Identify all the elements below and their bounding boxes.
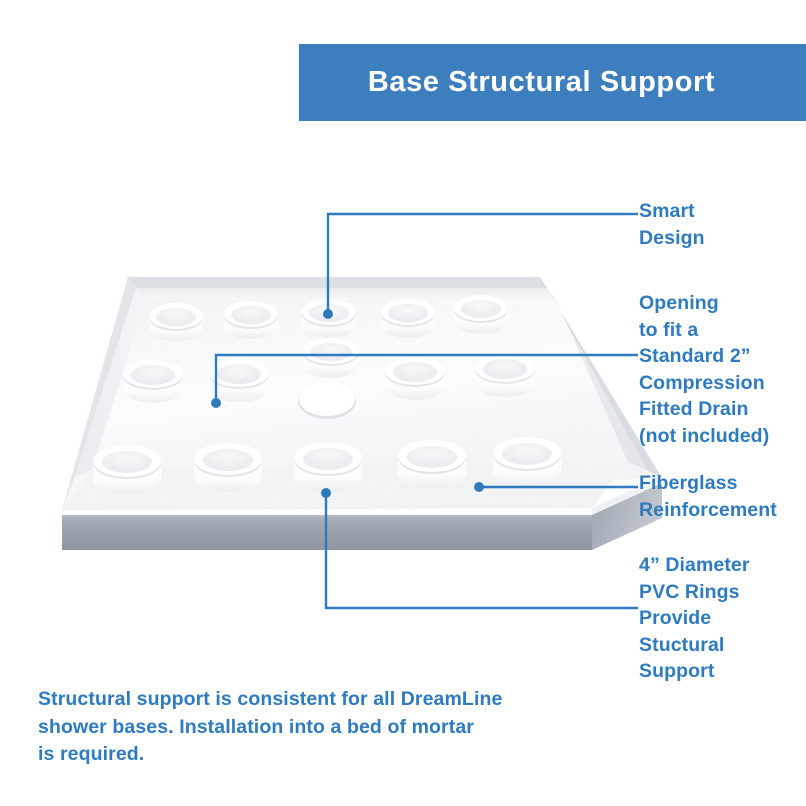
callout-line: Design <box>639 225 705 252</box>
base-outer-top <box>62 277 662 510</box>
pvc-ring <box>475 354 535 397</box>
leader-drain-opening <box>216 355 638 403</box>
callout-line: Opening <box>639 290 769 317</box>
leader-lines <box>211 214 638 608</box>
pvc-ring <box>149 303 203 341</box>
footer-line: Structural support is consistent for all… <box>38 686 578 714</box>
leader-dot-fiberglass <box>474 482 484 492</box>
callout-drain-opening: Opening to fit a Standard 2” Compression… <box>639 290 769 449</box>
footer-line: shower bases. Installation into a bed of… <box>38 714 578 742</box>
callout-line: Compression <box>639 370 769 397</box>
callout-line: Reinforcement <box>639 497 777 524</box>
pvc-ring <box>224 301 278 339</box>
base-rim-left-outer <box>62 277 136 510</box>
callout-pvc-rings: 4” Diameter PVC Rings Provide Stuctural … <box>639 552 750 685</box>
base-rim-right-top <box>547 288 647 470</box>
leader-smart-design <box>328 214 638 314</box>
pvc-ring <box>209 359 269 402</box>
callout-line: Standard 2” <box>639 343 769 370</box>
callout-line: Fitted Drain <box>639 396 769 423</box>
pvc-ring <box>385 357 445 400</box>
callout-line: 4” Diameter <box>639 552 750 579</box>
base-front-edge <box>62 514 592 550</box>
base-slab <box>62 277 662 550</box>
callout-fiberglass-reinforcement: Fiberglass Reinforcement <box>639 470 777 523</box>
callout-line: to fit a <box>639 317 769 344</box>
footer-line: is required. <box>38 741 578 769</box>
base-rim-back-top <box>136 288 556 300</box>
leader-pvc-rings <box>326 493 638 608</box>
leader-dot-pvc-rings <box>321 488 331 498</box>
footer-caption: Structural support is consistent for all… <box>38 686 578 769</box>
pvc-ring <box>493 437 561 486</box>
deck-shading <box>92 300 628 470</box>
pvc-ring <box>302 299 356 338</box>
callout-smart-design: Smart Design <box>639 198 705 251</box>
pvc-ring <box>381 299 435 338</box>
base-inner-deck <box>92 300 628 470</box>
drain-opening <box>298 382 356 419</box>
leader-dot-drain-opening <box>211 398 221 408</box>
pvc-ring <box>294 442 362 492</box>
callout-line: Stuctural <box>639 632 750 659</box>
leader-dot-smart-design <box>323 309 333 319</box>
page-title: Base Structural Support <box>368 66 715 99</box>
pvc-ring <box>398 440 466 489</box>
base-rim-left-top <box>75 288 146 476</box>
pvc-ring <box>194 443 262 492</box>
callout-line: Smart <box>639 198 705 225</box>
header-banner: Base Structural Support <box>299 44 806 121</box>
pvc-ring <box>123 360 183 403</box>
pvc-ring <box>303 338 359 378</box>
pvc-ring-group <box>93 295 561 494</box>
callout-line: Fiberglass <box>639 470 777 497</box>
callout-line: Provide <box>639 605 750 632</box>
callout-line: Support <box>639 658 750 685</box>
base-front-lip <box>62 508 592 515</box>
base-front-deck <box>62 462 628 510</box>
pvc-ring <box>93 445 161 494</box>
callout-line: PVC Rings <box>639 579 750 606</box>
base-rim-back-outer <box>128 277 547 288</box>
callout-line: (not included) <box>639 423 769 450</box>
pvc-ring <box>454 295 508 334</box>
